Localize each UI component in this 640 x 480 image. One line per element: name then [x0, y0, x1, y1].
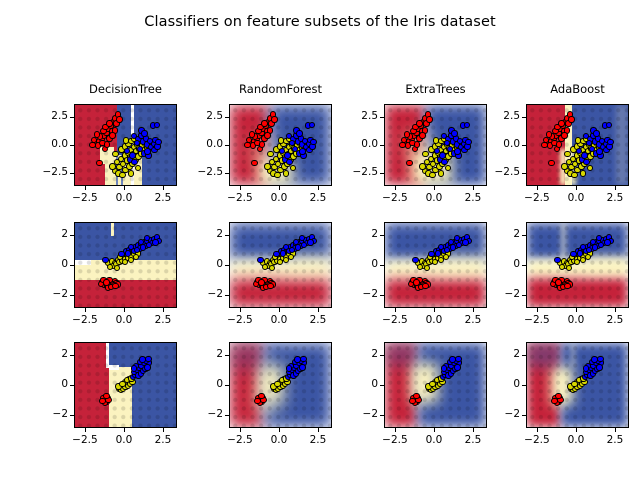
x-axis-tick: [395, 428, 396, 432]
x-axis-tick: [124, 186, 125, 190]
y-axis-tick-label: 2: [22, 228, 68, 240]
y-axis-tick-label: 0: [474, 378, 520, 390]
y-axis-tick-label: −2: [177, 288, 223, 300]
y-axis-tick-label: −2.5: [474, 166, 520, 178]
data-point: [310, 139, 316, 145]
x-axis-tick-label: 2.5: [448, 314, 498, 326]
x-axis-tick: [473, 308, 474, 312]
data-point: [119, 172, 125, 178]
data-point: [144, 364, 150, 370]
scatter-layer: [75, 223, 176, 307]
data-point: [412, 257, 418, 263]
data-point: [422, 283, 428, 289]
data-point: [106, 120, 112, 126]
scatter-layer: [385, 105, 486, 185]
x-axis-tick-label: 2.5: [448, 192, 498, 204]
x-axis-tick: [318, 428, 319, 432]
y-axis-tick: [70, 235, 74, 236]
x-axis-tick: [473, 428, 474, 432]
data-point: [413, 393, 419, 399]
y-axis-tick-label: 2.5: [22, 110, 68, 122]
y-axis-tick-label: 2: [332, 228, 378, 240]
y-axis-tick: [225, 117, 229, 118]
y-axis-tick: [70, 145, 74, 146]
data-point: [155, 139, 161, 145]
y-axis-tick: [522, 415, 526, 416]
data-point: [590, 239, 596, 245]
y-axis-tick: [70, 385, 74, 386]
data-point: [564, 283, 570, 289]
data-point: [541, 142, 547, 148]
scatter-layer: [75, 343, 176, 427]
scatter-layer: [75, 105, 176, 185]
data-point: [94, 131, 100, 137]
x-axis-tick: [124, 308, 125, 312]
data-point: [102, 257, 108, 263]
scatter-layer: [527, 223, 628, 307]
y-axis-tick-label: 0: [474, 258, 520, 270]
y-axis-tick-label: 2: [332, 348, 378, 360]
y-axis-tick: [522, 235, 526, 236]
data-point: [424, 265, 430, 271]
data-point: [449, 356, 455, 362]
data-point: [441, 365, 447, 371]
data-point: [606, 122, 612, 128]
y-axis-tick: [380, 355, 384, 356]
data-point: [244, 142, 250, 148]
y-axis-tick: [225, 235, 229, 236]
y-axis-tick: [380, 173, 384, 174]
data-point: [289, 140, 295, 146]
data-point: [399, 142, 405, 148]
y-axis-tick: [225, 145, 229, 146]
data-point: [564, 151, 570, 157]
data-point: [258, 279, 264, 285]
data-point: [596, 148, 602, 154]
y-axis-tick-label: −2: [474, 408, 520, 420]
y-axis-tick-label: 2.5: [474, 110, 520, 122]
data-point: [596, 364, 602, 370]
data-point: [417, 264, 423, 270]
y-axis-tick-label: 2: [474, 348, 520, 360]
x-axis-tick: [576, 428, 577, 432]
x-axis-tick-label: 2.5: [293, 434, 343, 446]
y-axis-tick: [380, 295, 384, 296]
data-point: [444, 140, 450, 146]
scatter-layer: [230, 223, 331, 307]
data-point: [454, 364, 460, 370]
data-point: [422, 151, 428, 157]
y-axis-tick-label: 2: [22, 348, 68, 360]
x-axis-tick: [473, 186, 474, 190]
x-axis-tick: [395, 308, 396, 312]
y-axis-tick: [70, 355, 74, 356]
data-point: [462, 239, 468, 245]
y-axis-tick: [225, 295, 229, 296]
y-axis-tick: [380, 415, 384, 416]
data-point: [283, 170, 289, 176]
subplot-r2-c3-adaboost: [526, 342, 629, 428]
subplot-r2-c1-randomforest: [229, 342, 332, 428]
y-axis-tick-label: −2: [177, 408, 223, 420]
data-point: [135, 165, 141, 171]
x-axis-tick: [279, 428, 280, 432]
x-axis-tick: [537, 428, 538, 432]
data-point: [267, 283, 273, 289]
data-point: [465, 139, 471, 145]
scatter-layer: [230, 343, 331, 427]
data-point: [585, 254, 591, 260]
y-axis-tick: [522, 295, 526, 296]
y-axis-tick-label: −2: [332, 288, 378, 300]
y-axis-tick-label: −2: [22, 408, 68, 420]
x-axis-tick-label: 2.5: [138, 314, 188, 326]
data-point: [586, 140, 592, 146]
data-point: [128, 244, 134, 250]
y-axis-tick-label: 2: [177, 348, 223, 360]
data-point: [274, 381, 280, 387]
scatter-layer: [527, 105, 628, 185]
x-axis-tick: [163, 308, 164, 312]
x-axis-tick: [576, 186, 577, 190]
column-title-adaboost: AdaBoost: [486, 82, 640, 96]
x-axis-tick: [163, 428, 164, 432]
data-point: [580, 170, 586, 176]
data-point: [251, 160, 257, 166]
data-point: [593, 130, 599, 136]
x-axis-tick-label: 2.5: [590, 434, 640, 446]
subplot-r0-c0-decisiontree: [74, 104, 177, 186]
x-axis-tick-label: 2.5: [448, 434, 498, 446]
data-point: [443, 254, 449, 260]
data-point: [259, 141, 265, 147]
subplot-r2-c2-extratrees: [384, 342, 487, 428]
x-axis-tick: [576, 308, 577, 312]
scatter-layer: [527, 343, 628, 427]
y-axis-tick: [70, 117, 74, 118]
data-point: [264, 163, 270, 169]
data-point: [96, 160, 102, 166]
data-point: [439, 152, 445, 158]
data-point: [109, 163, 115, 169]
data-point: [555, 393, 561, 399]
y-axis-tick-label: 0: [22, 258, 68, 270]
y-axis-tick: [522, 145, 526, 146]
x-axis-tick: [85, 186, 86, 190]
data-point: [293, 239, 299, 245]
x-axis-tick: [537, 308, 538, 312]
y-axis-tick: [70, 415, 74, 416]
y-axis-tick-label: −2: [22, 288, 68, 300]
data-point: [566, 265, 572, 271]
data-point: [104, 141, 110, 147]
x-axis-tick: [537, 186, 538, 190]
matplotlib-figure: Classifiers on feature subsets of the Ir…: [0, 0, 640, 480]
x-axis-tick: [318, 308, 319, 312]
y-axis-tick: [225, 385, 229, 386]
data-point: [262, 264, 268, 270]
data-point: [284, 152, 290, 158]
data-point: [454, 148, 460, 154]
y-axis-tick-label: −2.5: [177, 166, 223, 178]
x-axis-tick-label: 2.5: [293, 314, 343, 326]
y-axis-tick: [522, 355, 526, 356]
y-axis-tick-label: −2.5: [332, 166, 378, 178]
data-point: [133, 254, 139, 260]
data-point: [122, 259, 128, 265]
data-point: [271, 116, 277, 122]
x-axis-tick: [240, 428, 241, 432]
y-axis-tick: [522, 385, 526, 386]
y-axis-tick-label: 0: [177, 258, 223, 270]
data-point: [574, 259, 580, 265]
data-point: [404, 131, 410, 137]
x-axis-tick: [615, 308, 616, 312]
y-axis-tick-label: 0.0: [177, 138, 223, 150]
y-axis-tick: [380, 117, 384, 118]
x-axis-tick: [434, 308, 435, 312]
x-axis-tick-label: 2.5: [590, 192, 640, 204]
data-point: [413, 279, 419, 285]
data-point: [300, 356, 306, 362]
y-axis-tick-label: 2: [177, 228, 223, 240]
data-point: [138, 239, 144, 245]
data-point: [561, 132, 567, 138]
x-axis-tick-label: 2.5: [293, 192, 343, 204]
data-point: [261, 120, 267, 126]
data-point: [286, 365, 292, 371]
data-point: [571, 381, 577, 387]
subplot-r0-c3-adaboost: [526, 104, 629, 186]
data-point: [290, 165, 296, 171]
x-axis-tick: [240, 308, 241, 312]
data-point: [587, 165, 593, 171]
data-point: [257, 257, 263, 263]
data-point: [561, 163, 567, 169]
scatter-layer: [385, 343, 486, 427]
y-axis-tick: [225, 355, 229, 356]
data-point: [559, 264, 565, 270]
data-point: [580, 244, 586, 250]
x-axis-tick: [615, 186, 616, 190]
data-point: [131, 365, 137, 371]
data-point: [139, 356, 145, 362]
data-point: [296, 130, 302, 136]
x-axis-tick: [279, 186, 280, 190]
x-axis-tick: [279, 308, 280, 312]
data-point: [128, 170, 134, 176]
subplot-r1-c0-decisiontree: [74, 222, 177, 308]
data-point: [145, 356, 151, 362]
x-axis-tick: [615, 428, 616, 432]
subplot-r0-c1-randomforest: [229, 104, 332, 186]
y-axis-tick: [380, 385, 384, 386]
data-point: [414, 141, 420, 147]
data-point: [154, 122, 160, 128]
y-axis-tick: [380, 145, 384, 146]
y-axis-tick: [522, 265, 526, 266]
data-point: [141, 130, 147, 136]
x-axis-tick-label: 2.5: [138, 434, 188, 446]
y-axis-tick: [225, 415, 229, 416]
y-axis-tick: [70, 295, 74, 296]
y-axis-tick: [225, 265, 229, 266]
data-point: [299, 148, 305, 154]
x-axis-tick: [318, 186, 319, 190]
data-point: [426, 116, 432, 122]
data-point: [556, 141, 562, 147]
y-axis-tick-label: −2: [332, 408, 378, 420]
y-axis-tick-label: 0.0: [332, 138, 378, 150]
y-axis-tick-label: 2.5: [177, 110, 223, 122]
data-point: [445, 165, 451, 171]
data-point: [571, 172, 577, 178]
data-point: [429, 172, 435, 178]
data-point: [581, 152, 587, 158]
y-axis-tick: [70, 265, 74, 266]
data-point: [283, 244, 289, 250]
y-axis-tick-label: 0.0: [474, 138, 520, 150]
data-point: [267, 151, 273, 157]
data-point: [144, 148, 150, 154]
data-point: [129, 152, 135, 158]
subplot-r2-c0-decisiontree: [74, 342, 177, 428]
data-point: [555, 279, 561, 285]
y-axis-tick-label: −2: [474, 288, 520, 300]
data-point: [109, 132, 115, 138]
y-axis-tick-label: 2.5: [332, 110, 378, 122]
data-point: [455, 356, 461, 362]
y-axis-tick-label: 0: [177, 378, 223, 390]
data-point: [274, 172, 280, 178]
data-point: [116, 116, 122, 122]
scatter-layer: [385, 223, 486, 307]
data-point: [597, 356, 603, 362]
y-axis-tick-label: 0: [332, 378, 378, 390]
data-point: [264, 132, 270, 138]
data-point: [419, 132, 425, 138]
x-axis-tick: [85, 428, 86, 432]
x-axis-tick: [434, 428, 435, 432]
data-point: [277, 259, 283, 265]
y-axis-tick: [225, 173, 229, 174]
x-axis-tick: [85, 308, 86, 312]
data-point: [558, 120, 564, 126]
y-axis-tick: [522, 173, 526, 174]
data-point: [152, 239, 158, 245]
subplot-r0-c2-extratrees: [384, 104, 487, 186]
data-point: [89, 142, 95, 148]
subplot-r1-c3-adaboost: [526, 222, 629, 308]
data-point: [258, 393, 264, 399]
data-point: [103, 393, 109, 399]
data-point: [269, 265, 275, 271]
x-axis-tick: [124, 428, 125, 432]
data-point: [103, 279, 109, 285]
data-point: [406, 160, 412, 166]
data-point: [583, 365, 589, 371]
data-point: [607, 139, 613, 145]
y-axis-tick-label: 2: [474, 228, 520, 240]
data-point: [554, 257, 560, 263]
data-point: [294, 356, 300, 362]
data-point: [546, 131, 552, 137]
subplot-r1-c2-extratrees: [384, 222, 487, 308]
y-axis-tick: [380, 265, 384, 266]
figure-suptitle: Classifiers on feature subsets of the Ir…: [0, 14, 640, 30]
x-axis-tick-label: 2.5: [138, 192, 188, 204]
x-axis-tick: [434, 186, 435, 190]
scatter-layer: [230, 105, 331, 185]
data-point: [307, 239, 313, 245]
data-point: [429, 381, 435, 387]
y-axis-tick-label: 0.0: [22, 138, 68, 150]
data-point: [119, 381, 125, 387]
data-point: [416, 120, 422, 126]
data-point: [107, 264, 113, 270]
y-axis-tick-label: −2.5: [22, 166, 68, 178]
data-point: [112, 151, 118, 157]
data-point: [134, 140, 140, 146]
data-point: [438, 170, 444, 176]
y-axis-tick-label: 0: [332, 258, 378, 270]
data-point: [591, 356, 597, 362]
data-point: [448, 239, 454, 245]
subplot-r1-c1-randomforest: [229, 222, 332, 308]
y-axis-tick: [70, 173, 74, 174]
data-point: [438, 244, 444, 250]
y-axis-tick: [522, 117, 526, 118]
data-point: [249, 131, 255, 137]
data-point: [432, 259, 438, 265]
data-point: [548, 160, 554, 166]
x-axis-tick: [163, 186, 164, 190]
data-point: [604, 239, 610, 245]
data-point: [464, 122, 470, 128]
data-point: [114, 265, 120, 271]
x-axis-tick: [395, 186, 396, 190]
data-point: [451, 130, 457, 136]
y-axis-tick: [380, 235, 384, 236]
data-point: [568, 116, 574, 122]
data-point: [112, 283, 118, 289]
data-point: [299, 364, 305, 370]
data-point: [309, 122, 315, 128]
data-point: [419, 163, 425, 169]
x-axis-tick: [240, 186, 241, 190]
data-point: [288, 254, 294, 260]
y-axis-tick-label: 0: [22, 378, 68, 390]
x-axis-tick-label: 2.5: [590, 314, 640, 326]
